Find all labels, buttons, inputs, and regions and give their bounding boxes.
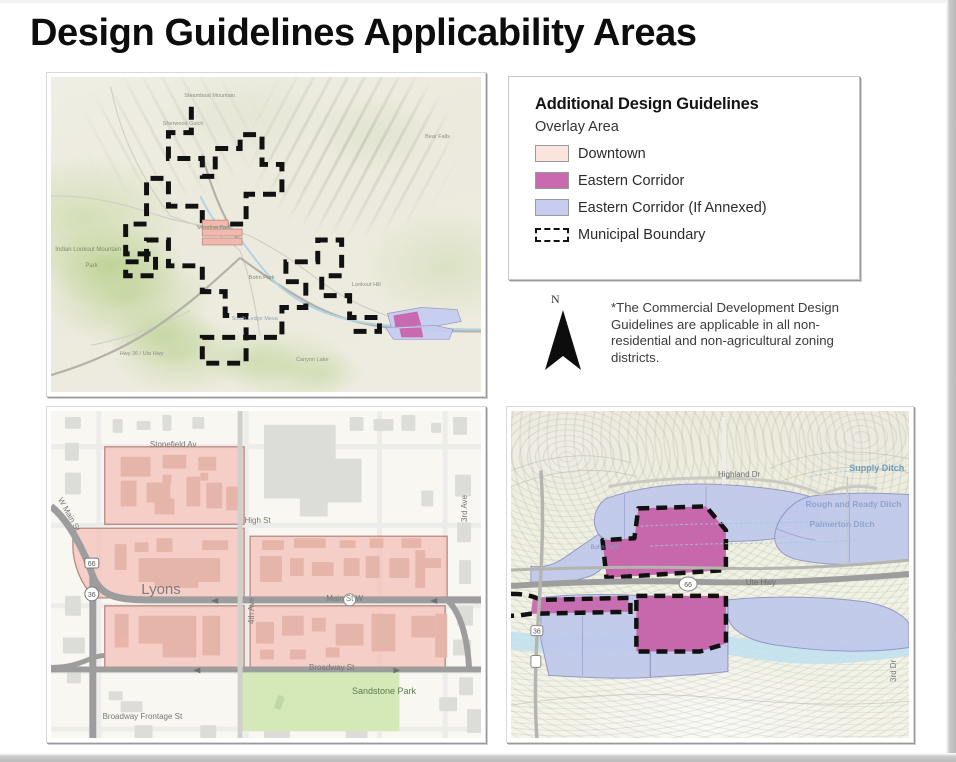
swatch-downtown	[535, 145, 569, 162]
svg-text:36: 36	[533, 629, 541, 636]
north-arrow-label: N	[551, 292, 560, 307]
overview-map[interactable]: Steamboat Mountain Sherwood Gulch Bear F…	[46, 72, 486, 397]
downtown-vector-layer: 66 36	[51, 411, 481, 738]
page-edge-bottom	[0, 753, 956, 762]
overview-vector-layer	[51, 77, 481, 392]
north-arrow-icon	[540, 310, 586, 372]
svg-text:36: 36	[88, 592, 96, 599]
applicability-note: *The Commercial Development Design Guide…	[611, 300, 869, 366]
page-title: Design Guidelines Applicability Areas	[30, 12, 697, 55]
eastern-corridor-map[interactable]: 66 36 Highland Dr Ute Hwy Supply Ditch R…	[506, 406, 914, 743]
north-arrow: N	[540, 292, 600, 378]
legend-label-eastern-corridor: Eastern Corridor	[578, 173, 684, 189]
municipal-boundary-line	[126, 107, 380, 363]
downtown-map-canvas: 66 36 Stonefield Av High St Lyons Main S…	[51, 411, 481, 738]
svg-text:66: 66	[88, 561, 96, 568]
legend-panel: Additional Design Guidelines Overlay Are…	[508, 76, 860, 280]
page-canvas: Design Guidelines Applicability Areas	[0, 0, 956, 762]
legend-label-downtown: Downtown	[578, 146, 646, 162]
overview-eastern-overlay	[385, 308, 461, 340]
eastern-corridor-map-canvas: 66 36 Highland Dr Ute Hwy Supply Ditch R…	[511, 411, 909, 738]
legend-subtitle: Overlay Area	[535, 119, 841, 135]
svg-text:66: 66	[684, 582, 692, 589]
sandstone-park-polygon	[240, 671, 399, 731]
legend-label-eastern-corridor-annexed: Eastern Corridor (If Annexed)	[578, 200, 767, 216]
eastern-corridor-vector-layer: 66 36	[511, 411, 909, 738]
page-edge-right	[946, 0, 956, 762]
downtown-map[interactable]: 66 36 Stonefield Av High St Lyons Main S…	[46, 406, 486, 743]
legend-title: Additional Design Guidelines	[535, 95, 841, 114]
legend-item-downtown[interactable]: Downtown	[535, 140, 841, 167]
swatch-municipal-boundary	[535, 228, 569, 242]
swatch-eastern-corridor-annexed	[535, 199, 569, 216]
legend-label-municipal-boundary: Municipal Boundary	[578, 227, 705, 243]
page-edge-top	[0, 0, 956, 3]
swatch-eastern-corridor	[535, 172, 569, 189]
legend-item-eastern-corridor[interactable]: Eastern Corridor	[535, 167, 841, 194]
legend-item-municipal-boundary[interactable]: Municipal Boundary	[535, 221, 841, 248]
legend-item-eastern-corridor-annexed[interactable]: Eastern Corridor (If Annexed)	[535, 194, 841, 221]
overview-map-canvas: Steamboat Mountain Sherwood Gulch Bear F…	[51, 77, 481, 392]
